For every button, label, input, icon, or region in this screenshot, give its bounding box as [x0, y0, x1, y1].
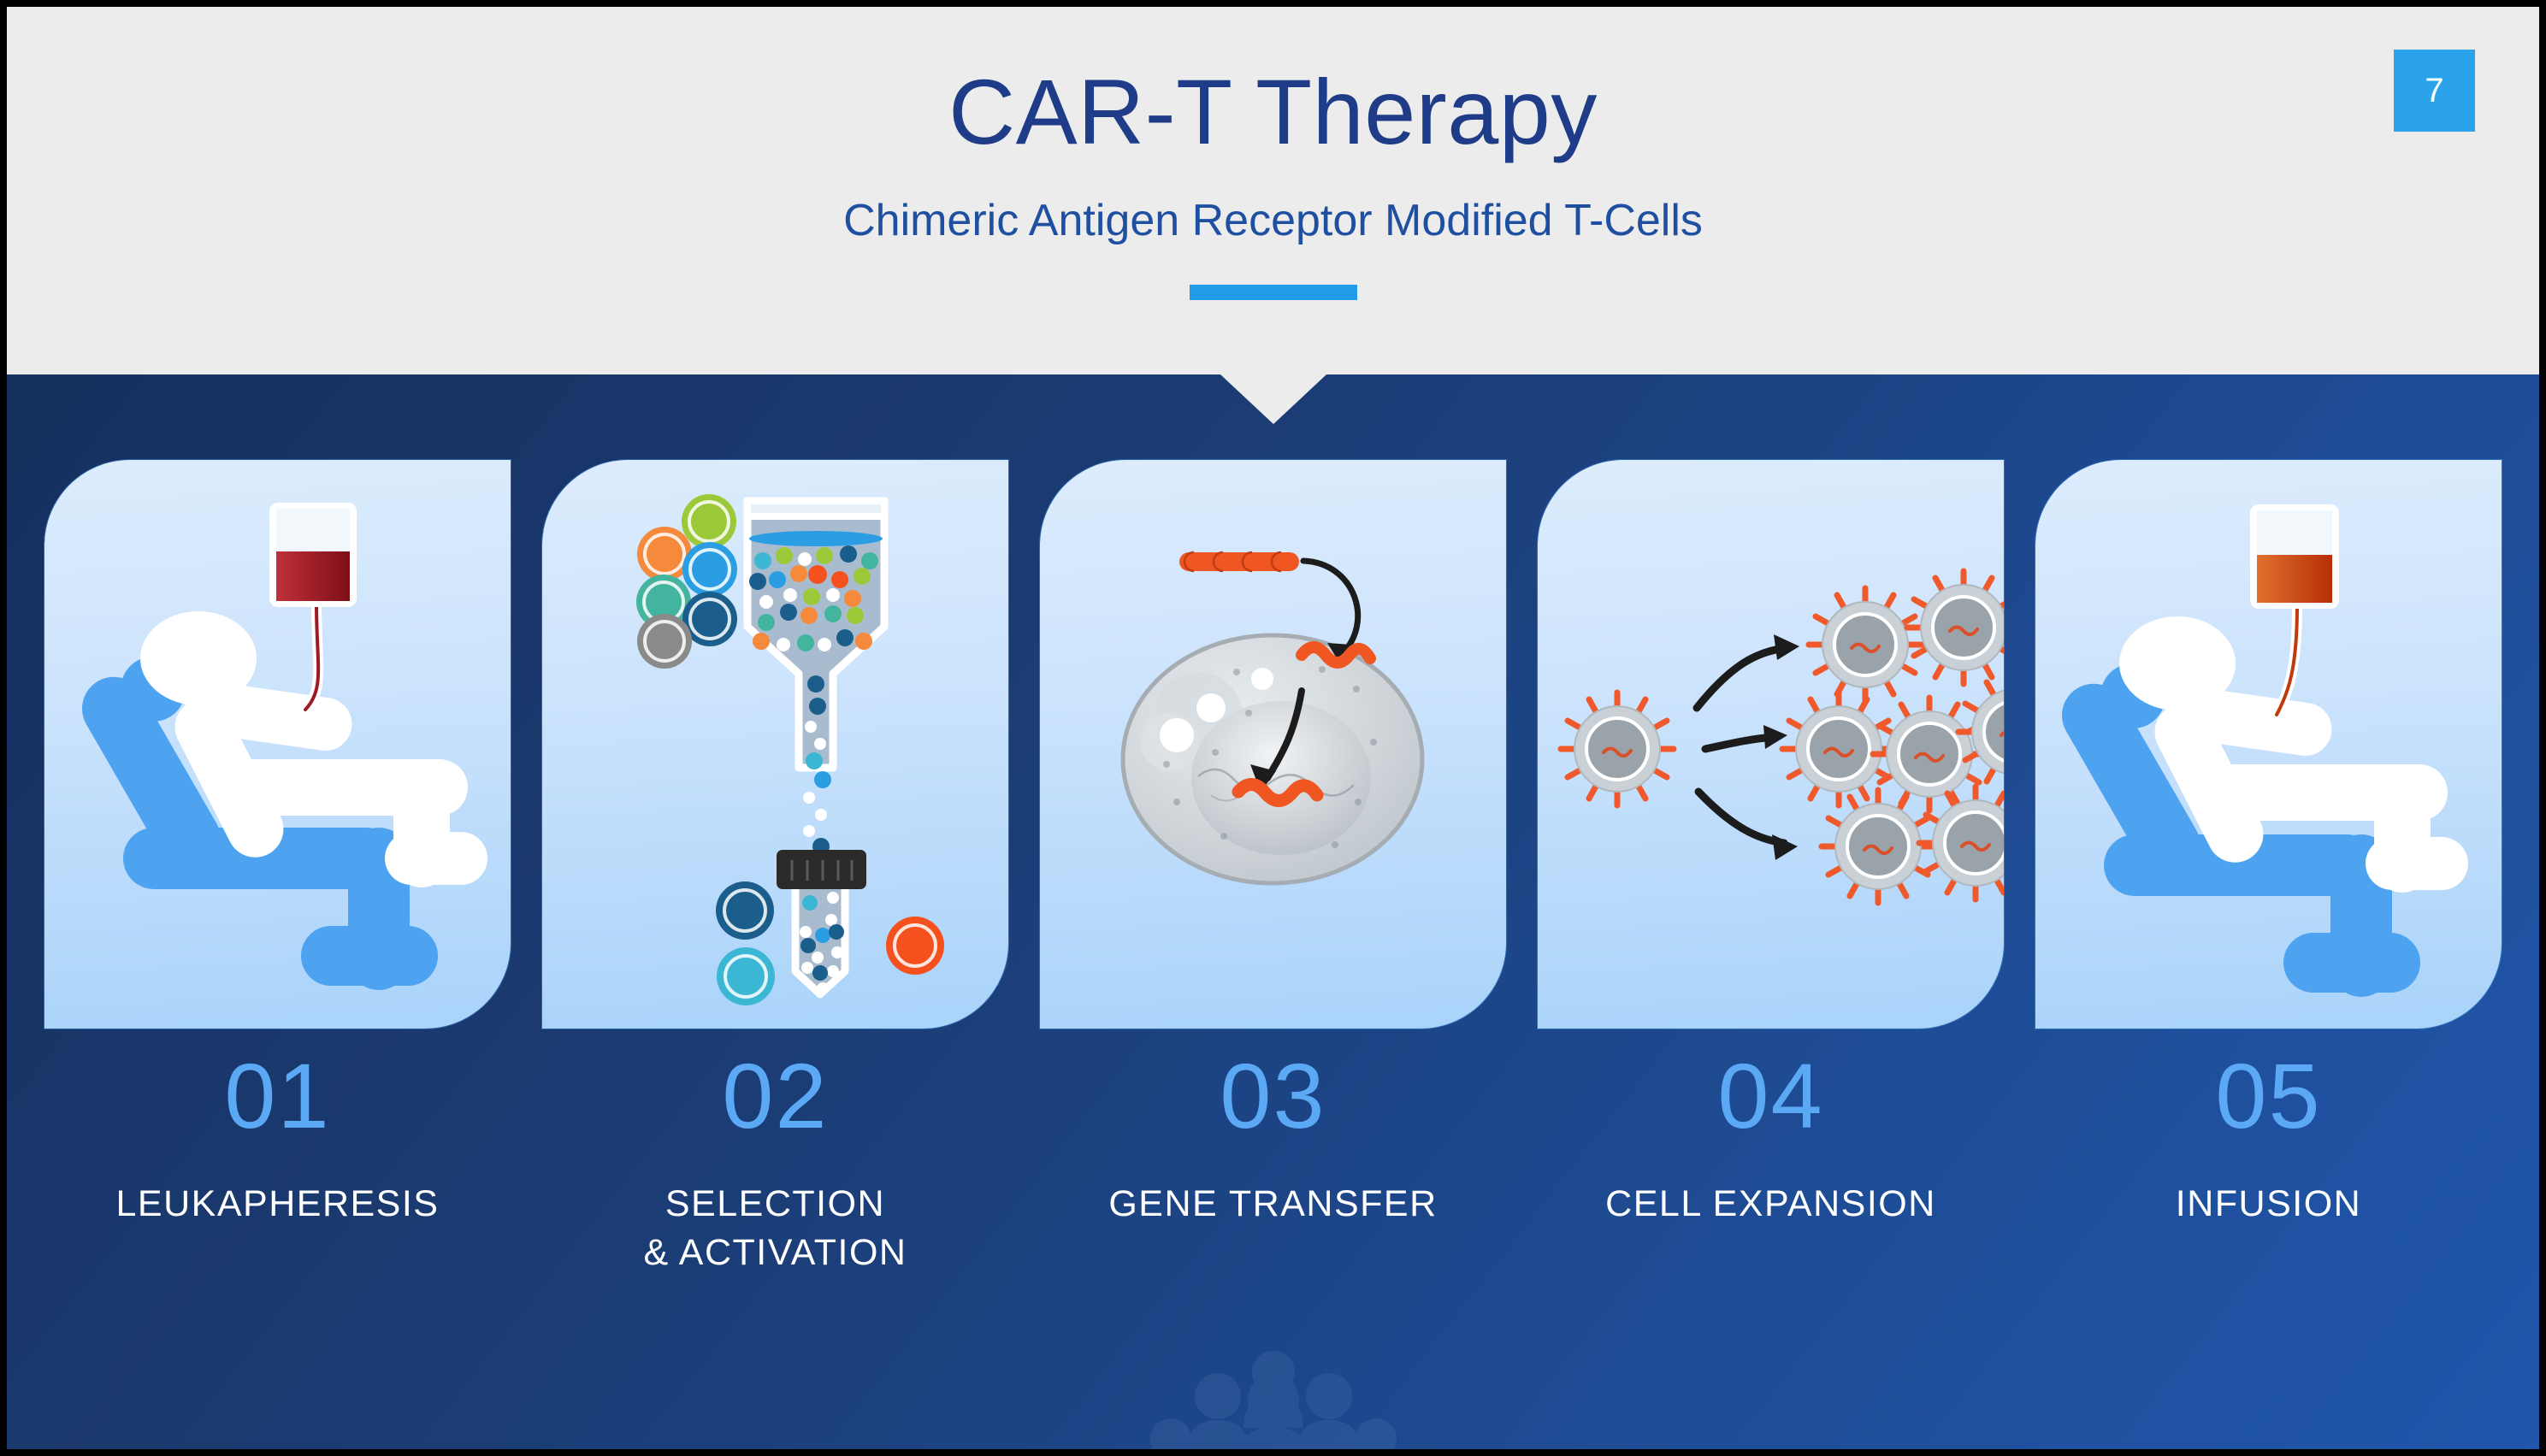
header-pointer-triangle — [1220, 374, 1326, 424]
caption-step-5: 05 INFUSION — [2035, 1050, 2502, 1375]
step-label: CELL EXPANSION — [1538, 1180, 2004, 1229]
cell-selection-funnel-icon — [542, 460, 1008, 1029]
step-number: 03 — [1040, 1050, 1506, 1142]
step-label: INFUSION — [2035, 1180, 2502, 1229]
caption-step-3: 03 GENE TRANSFER — [1040, 1050, 1506, 1375]
source-cart-cell — [1561, 693, 1674, 805]
process-captions-row: 01 LEUKAPHERESIS 02 SELECTION & ACTIVATI… — [7, 1050, 2539, 1375]
step-card-infusion[interactable] — [2035, 460, 2502, 1029]
step-number: 02 — [542, 1050, 1008, 1142]
step-number: 01 — [44, 1050, 511, 1142]
step-card-cell-expansion[interactable] — [1538, 460, 2004, 1029]
step-label: SELECTION & ACTIVATION — [542, 1180, 1008, 1277]
step-number: 04 — [1538, 1050, 2004, 1142]
accent-bar — [1190, 285, 1357, 300]
people-group-watermark-icon — [1132, 1347, 1415, 1449]
page-title: CAR-T Therapy — [7, 63, 2539, 160]
page-number-badge: 7 — [2394, 50, 2475, 132]
gene-transfer-cell-icon — [1040, 460, 1506, 1029]
step-label: LEUKAPHERESIS — [44, 1180, 511, 1229]
caption-step-4: 04 CELL EXPANSION — [1538, 1050, 2004, 1375]
slide-body: 01 LEUKAPHERESIS 02 SELECTION & ACTIVATI… — [7, 374, 2539, 1449]
step-label: GENE TRANSFER — [1040, 1180, 1506, 1229]
slide: CAR-T Therapy Chimeric Antigen Receptor … — [7, 7, 2539, 1449]
page-subtitle: Chimeric Antigen Receptor Modified T-Cel… — [7, 195, 2539, 246]
car-t-cell-expansion-icon — [1538, 460, 2004, 1029]
caption-step-1: 01 LEUKAPHERESIS — [44, 1050, 511, 1375]
step-card-gene-transfer[interactable] — [1040, 460, 1506, 1029]
process-cards-row — [7, 460, 2539, 1029]
patient-blood-collection-icon — [44, 460, 511, 1029]
slide-header: CAR-T Therapy Chimeric Antigen Receptor … — [7, 7, 2539, 374]
step-card-selection-activation[interactable] — [542, 460, 1008, 1029]
step-number: 05 — [2035, 1050, 2502, 1142]
caption-step-2: 02 SELECTION & ACTIVATION — [542, 1050, 1008, 1375]
patient-infusion-icon — [2035, 460, 2502, 1029]
step-card-leukapheresis[interactable] — [44, 460, 511, 1029]
